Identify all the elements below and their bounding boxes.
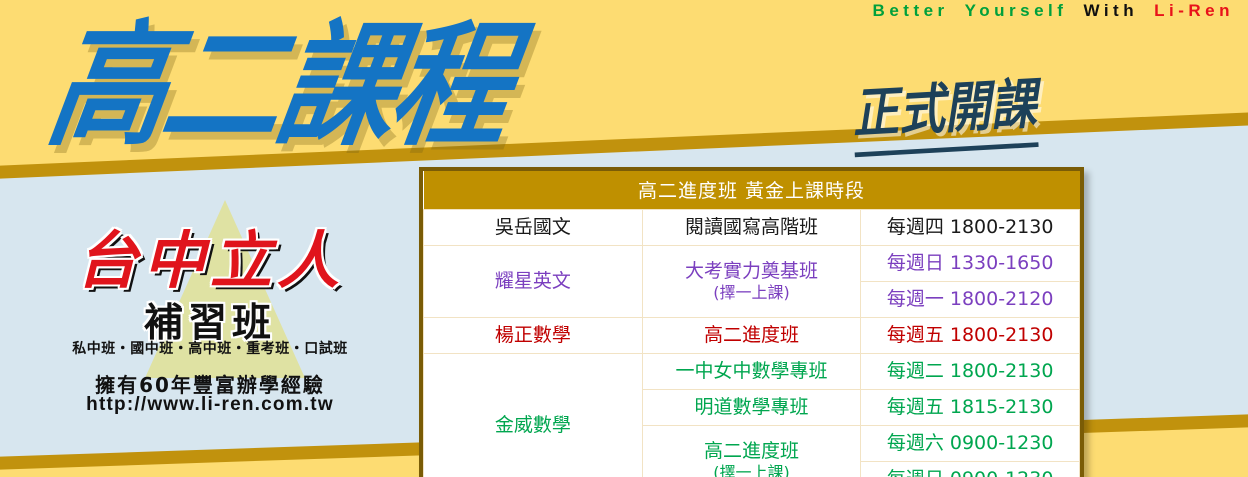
cell-course-name: 一中女中數學專班 [675,360,827,382]
cell-course: 高二進度班 [642,318,861,354]
tagline-word-liren: Li-Ren [1154,1,1234,20]
cell-teacher: 楊正數學 [424,318,643,354]
logo: 台中立人 補習班 私中班・國中班・高中班・重考班・口試班 擁有60年豐富辦學經驗… [10,206,410,416]
schedule-table-container: 高二進度班 黃金上課時段 吳岳國文 閱讀國寫高階班 每週四 1800-2130 … [419,167,1084,477]
cell-course: 大考實力奠基班 (擇一上課) [642,246,861,318]
cell-teacher: 吳岳國文 [424,210,643,246]
cell-course-note: (擇一上課) [645,283,859,303]
cell-course-note: (擇一上課) [645,463,859,477]
cell-teacher: 金威數學 [424,354,643,477]
cell-time: 每週一 1800-2120 [861,282,1080,318]
tagline-word-with: With [1083,1,1138,20]
tagline-word-yourself: Yourself [965,1,1068,20]
cell-course: 高二進度班 (擇一上課) [642,426,861,477]
table-row: 吳岳國文 閱讀國寫高階班 每週四 1800-2130 [424,210,1080,246]
table-header-title: 高二進度班 黃金上課時段 [424,171,1080,210]
table-body: 吳岳國文 閱讀國寫高階班 每週四 1800-2130 耀星英文 大考實力奠基班 … [424,210,1080,477]
tagline-word-better: Better [873,1,949,20]
promo-banner: BetterYourselfWithLi-Ren 高二課程 正式開課 台中立人 … [0,0,1248,477]
cell-time: 每週五 1815-2130 [861,390,1080,426]
cell-time: 每週五 1800-2130 [861,318,1080,354]
table-row: 金威數學 一中女中數學專班 每週二 1800-2130 [424,354,1080,390]
page-title: 高二課程 [62,16,518,140]
logo-class-list: 私中班・國中班・高中班・重考班・口試班 [10,338,410,358]
tagline: BetterYourselfWithLi-Ren [873,1,1234,21]
cell-course: 閱讀國寫高階班 [642,210,861,246]
table-header-row: 高二進度班 黃金上課時段 [424,171,1080,210]
cell-time: 每週日 1330-1650 [861,246,1080,282]
cell-course-name: 閱讀國寫高階班 [685,216,818,238]
cell-course-name: 明道數學專班 [694,396,808,418]
schedule-table: 高二進度班 黃金上課時段 吳岳國文 閱讀國寫高階班 每週四 1800-2130 … [423,171,1080,477]
cell-course: 明道數學專班 [642,390,861,426]
cell-time: 每週日 0900-1230 [861,462,1080,477]
cell-time: 每週六 0900-1230 [861,426,1080,462]
page-title-text: 高二課程 [40,16,518,157]
table-row: 楊正數學 高二進度班 每週五 1800-2130 [424,318,1080,354]
logo-website-url[interactable]: http://www.li-ren.com.tw [10,394,410,416]
cell-course-name: 高二進度班 [704,440,799,462]
cell-course-name: 高二進度班 [704,324,799,346]
cell-time: 每週二 1800-2130 [861,354,1080,390]
cell-course-name: 大考實力奠基班 [685,260,818,282]
cell-course: 一中女中數學專班 [642,354,861,390]
subtitle-badge: 正式開課 [850,61,1038,144]
table-row: 耀星英文 大考實力奠基班 (擇一上課) 每週日 1330-1650 [424,246,1080,282]
cell-time: 每週四 1800-2130 [861,210,1080,246]
logo-name: 台中立人 [10,210,410,300]
subtitle-text: 正式開課 [850,61,1039,157]
cell-teacher: 耀星英文 [424,246,643,318]
